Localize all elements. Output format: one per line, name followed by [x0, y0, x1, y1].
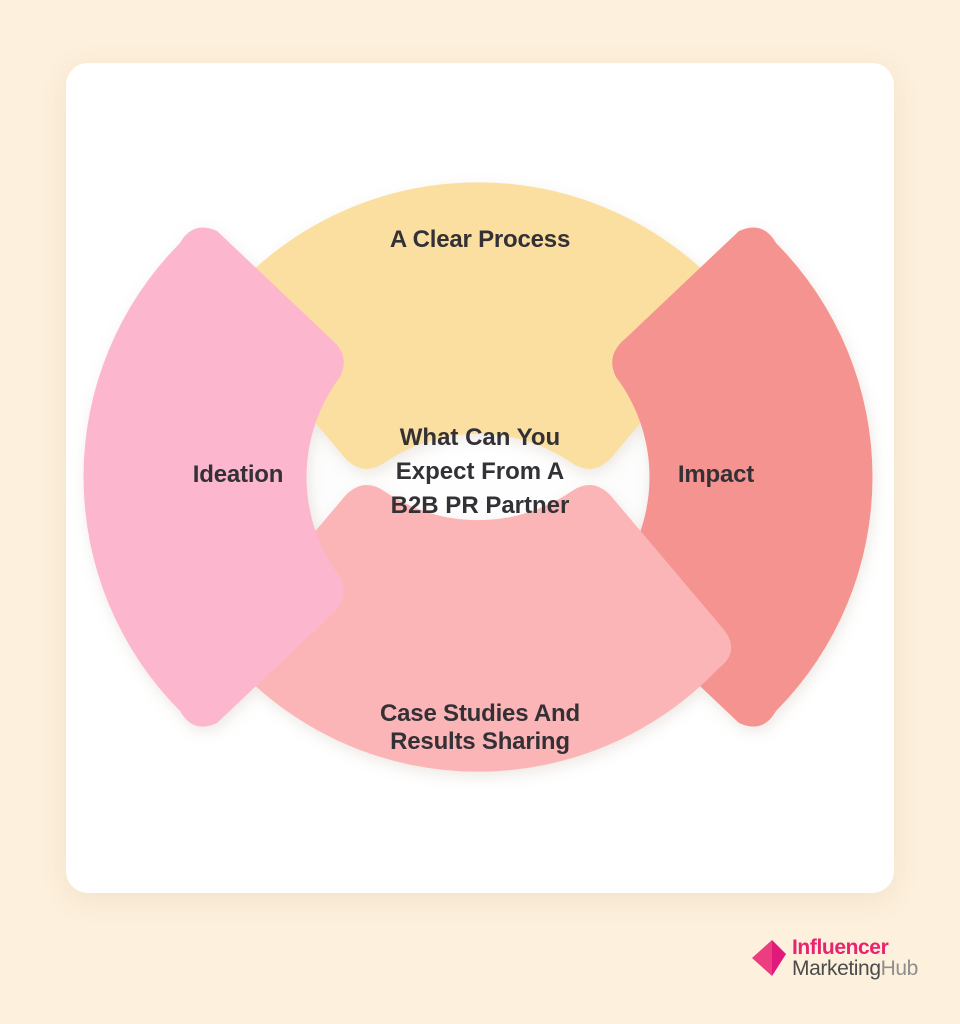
logo-text-hub: Hub	[881, 957, 918, 980]
logo-text-marketing: Marketing	[792, 957, 881, 980]
page-root: A Clear Process Impact Case Studies And …	[0, 0, 960, 1024]
donut-svg	[66, 63, 894, 893]
pink-arrow-icon	[752, 938, 786, 980]
logo-wordmark: Influencer MarketingHub	[792, 937, 918, 980]
influencer-marketing-hub-logo[interactable]: Influencer MarketingHub	[752, 936, 918, 980]
content-card: A Clear Process Impact Case Studies And …	[66, 63, 894, 893]
logo-line-influencer: Influencer	[792, 937, 918, 958]
donut-diagram: A Clear Process Impact Case Studies And …	[66, 63, 894, 893]
logo-line-marketinghub: MarketingHub	[792, 958, 918, 979]
